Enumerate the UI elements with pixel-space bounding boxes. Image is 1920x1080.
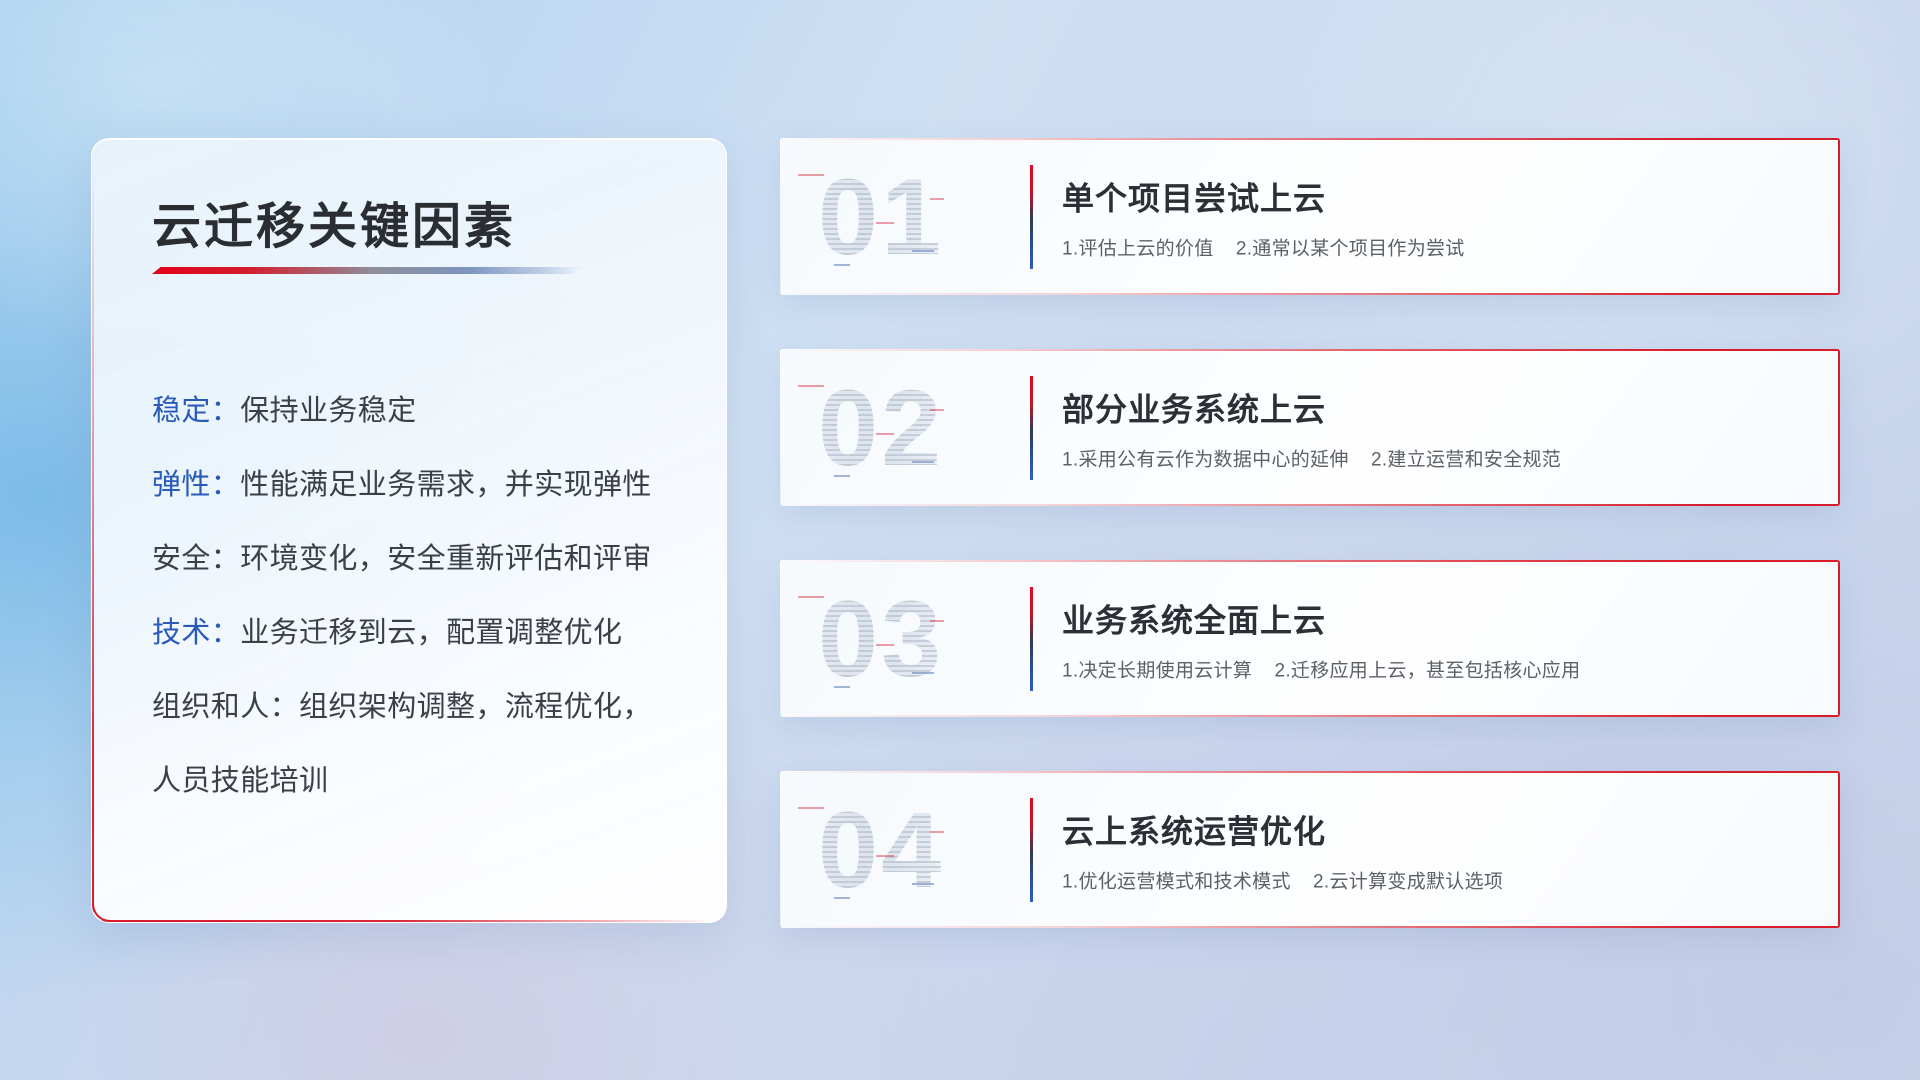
card-number-watermark: 03	[780, 560, 1030, 717]
factor-label: 弹性：	[152, 469, 240, 501]
card-body: 部分业务系统上云1.采用公有云作为数据中心的延伸 2.建立运营和安全规范	[1062, 384, 1800, 471]
migration-stage-card[interactable]: 02部分业务系统上云1.采用公有云作为数据中心的延伸 2.建立运营和安全规范	[780, 349, 1840, 506]
slide-stage: 云迁移关键因素 稳定：保持业务稳定弹性：性能满足业务需求，并实现弹性安全：环境变…	[0, 0, 1920, 1080]
card-number-glitch-streak	[930, 831, 944, 833]
card-number-glitch-streak	[798, 385, 824, 387]
factor-row: 人员技能培训	[152, 744, 686, 818]
title-underline-accent	[152, 267, 582, 274]
page-title: 云迁移关键因素	[152, 187, 516, 258]
factor-label: 安全：	[152, 543, 240, 575]
card-frame-right	[1838, 349, 1840, 506]
migration-stage-card[interactable]: 04云上系统运营优化1.优化运营模式和技术模式 2.云计算变成默认选项	[780, 771, 1840, 928]
card-number-glitch-streak	[912, 461, 934, 463]
factor-text: 业务迁移到云，配置调整优化	[240, 617, 622, 649]
factor-text: 组织架构调整，流程优化，	[299, 691, 652, 723]
card-frame-right	[1838, 771, 1840, 928]
factor-label: 技术：	[152, 617, 240, 649]
factor-label: 稳定：	[152, 395, 240, 427]
card-body: 业务系统全面上云1.决定长期使用云计算 2.迁移应用上云，甚至包括核心应用	[1062, 595, 1800, 682]
panel-red-left-edge	[92, 157, 94, 922]
card-number-glitch-streak	[798, 174, 824, 176]
card-number-glitch-streak	[834, 264, 850, 266]
card-body: 云上系统运营优化1.优化运营模式和技术模式 2.云计算变成默认选项	[1062, 806, 1800, 893]
factor-label: 组织和人：	[152, 691, 299, 723]
card-number-glitch-streak	[876, 855, 894, 857]
card-subtitle: 1.采用公有云作为数据中心的延伸 2.建立运营和安全规范	[1062, 444, 1800, 471]
card-number: 01	[818, 163, 944, 271]
card-number-glitch-streak	[798, 596, 824, 598]
card-title: 业务系统全面上云	[1062, 595, 1800, 641]
card-frame-right	[1838, 560, 1840, 717]
card-subtitle: 1.评估上云的价值 2.通常以某个项目作为尝试	[1062, 233, 1800, 260]
card-number-glitch-streak	[834, 686, 850, 688]
migration-stage-card[interactable]: 01单个项目尝试上云1.评估上云的价值 2.通常以某个项目作为尝试	[780, 138, 1840, 295]
card-number: 04	[818, 796, 944, 904]
migration-stage-card-list: 01单个项目尝试上云1.评估上云的价值 2.通常以某个项目作为尝试02部分业务系…	[780, 138, 1840, 928]
card-number-glitch-streak	[876, 222, 894, 224]
card-subtitle: 1.决定长期使用云计算 2.迁移应用上云，甚至包括核心应用	[1062, 655, 1800, 682]
card-number-watermark: 01	[780, 138, 1030, 295]
factor-row: 稳定：保持业务稳定	[152, 374, 686, 448]
card-accent-divider	[1030, 165, 1033, 269]
panel-red-corner-accent	[92, 888, 126, 922]
card-number-glitch-streak	[876, 644, 894, 646]
card-title: 部分业务系统上云	[1062, 384, 1800, 430]
card-title: 云上系统运营优化	[1062, 806, 1800, 852]
factor-row: 组织和人：组织架构调整，流程优化，	[152, 670, 686, 744]
card-title: 单个项目尝试上云	[1062, 173, 1800, 219]
factor-row: 安全：环境变化，安全重新评估和评审	[152, 522, 686, 596]
card-number-glitch-streak	[834, 897, 850, 899]
card-number-glitch-streak	[798, 807, 824, 809]
card-number-glitch-streak	[912, 250, 934, 252]
factor-list: 稳定：保持业务稳定弹性：性能满足业务需求，并实现弹性安全：环境变化，安全重新评估…	[152, 374, 686, 818]
panel-red-bottom-edge	[92, 920, 716, 922]
card-number-glitch-streak	[930, 620, 944, 622]
card-number-watermark: 02	[780, 349, 1030, 506]
card-accent-divider	[1030, 376, 1033, 480]
card-number: 02	[818, 374, 944, 482]
card-number-glitch-streak	[930, 409, 944, 411]
key-factors-panel: 云迁移关键因素 稳定：保持业务稳定弹性：性能满足业务需求，并实现弹性安全：环境变…	[91, 138, 727, 923]
card-number-glitch-streak	[930, 198, 944, 200]
card-number: 03	[818, 585, 944, 693]
migration-stage-card[interactable]: 03业务系统全面上云1.决定长期使用云计算 2.迁移应用上云，甚至包括核心应用	[780, 560, 1840, 717]
factor-row: 技术：业务迁移到云，配置调整优化	[152, 596, 686, 670]
card-body: 单个项目尝试上云1.评估上云的价值 2.通常以某个项目作为尝试	[1062, 173, 1800, 260]
card-number-glitch-streak	[912, 883, 934, 885]
card-accent-divider	[1030, 587, 1033, 691]
factor-text: 环境变化，安全重新评估和评审	[240, 543, 652, 575]
card-number-glitch-streak	[912, 672, 934, 674]
card-number-glitch-streak	[834, 475, 850, 477]
card-subtitle: 1.优化运营模式和技术模式 2.云计算变成默认选项	[1062, 866, 1800, 893]
card-frame-right	[1838, 138, 1840, 295]
card-number-glitch-streak	[876, 433, 894, 435]
factor-text: 人员技能培训	[152, 765, 328, 797]
factor-text: 性能满足业务需求，并实现弹性	[240, 469, 652, 501]
card-accent-divider	[1030, 798, 1033, 902]
factor-text: 保持业务稳定	[240, 395, 416, 427]
card-number-watermark: 04	[780, 771, 1030, 928]
factor-row: 弹性：性能满足业务需求，并实现弹性	[152, 448, 686, 522]
